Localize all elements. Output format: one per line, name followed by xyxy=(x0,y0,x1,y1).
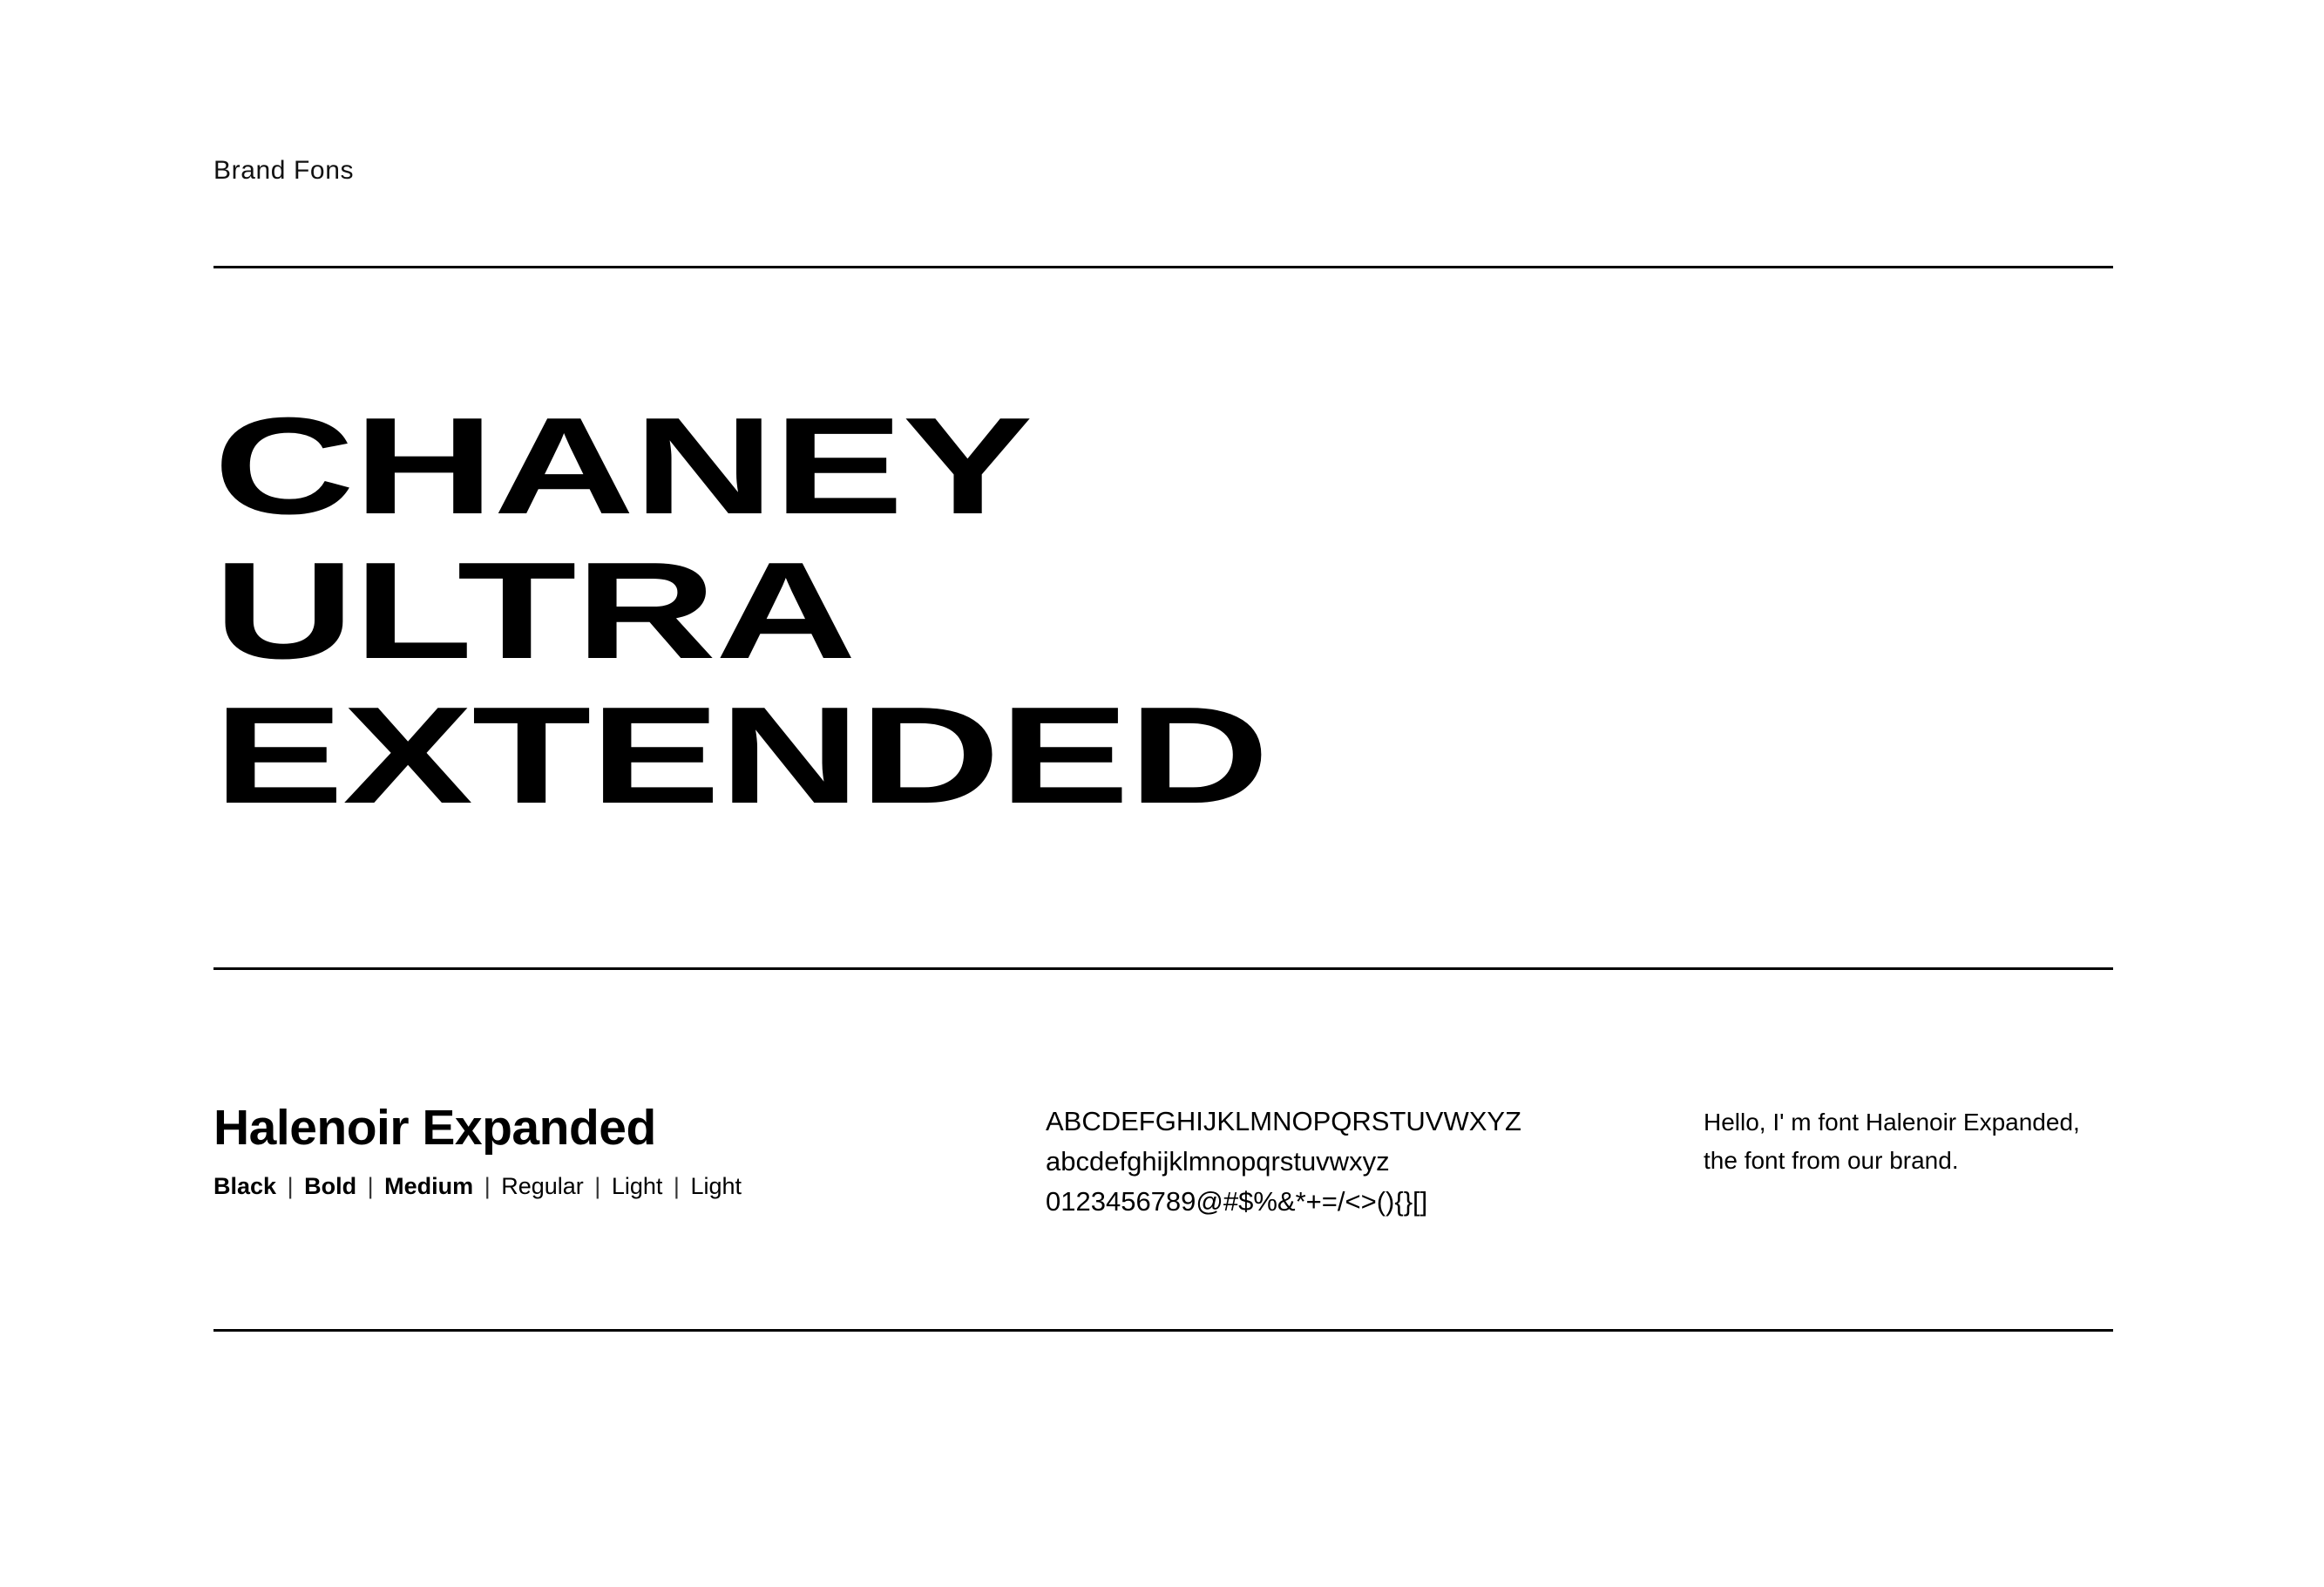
font-details-section: Halenoir Expanded Black | Bold | Medium … xyxy=(213,1100,2113,1274)
divider-bottom xyxy=(213,1329,2113,1332)
weight-black: Black xyxy=(213,1173,276,1199)
character-set-column: ABCDEFGHIJKLMNOPQRSTUVWXYZ abcdefghijklm… xyxy=(1046,1102,1569,1222)
display-line-1: CHANEY xyxy=(213,394,2317,539)
sample-text-column: Hello, I' m font Halenoir Expanded, the … xyxy=(1704,1103,2113,1180)
weight-regular: Regular xyxy=(501,1173,584,1199)
page-title: Brand Fons xyxy=(213,156,354,186)
font-name-column: Halenoir Expanded Black | Bold | Medium … xyxy=(213,1100,1024,1201)
charset-uppercase: ABCDEFGHIJKLMNOPQRSTUVWXYZ xyxy=(1046,1102,1569,1142)
display-type-specimen: CHANEY ULTRA EXTENDED xyxy=(213,394,1695,828)
divider-top xyxy=(213,266,2113,268)
font-weight-list: Black | Bold | Medium | Regular | Light … xyxy=(213,1171,1024,1201)
divider-middle xyxy=(213,967,2113,970)
weight-light-1: Light xyxy=(612,1173,663,1199)
charset-numerals-symbols: 0123456789@#$%&*+=/<>(){}[] xyxy=(1046,1182,1569,1222)
weight-separator: | xyxy=(669,1173,684,1199)
font-name: Halenoir Expanded xyxy=(213,1100,1024,1156)
display-line-2: ULTRA xyxy=(213,539,2317,683)
display-line-3: EXTENDED xyxy=(213,683,2317,828)
sample-text-line-2: the font from our brand. xyxy=(1704,1142,2113,1180)
specimen-page: Brand Fons CHANEY ULTRA EXTENDED Halenoi… xyxy=(0,0,2324,1587)
sample-text-line-1: Hello, I' m font Halenoir Expanded, xyxy=(1704,1103,2113,1142)
weight-light-2: Light xyxy=(690,1173,742,1199)
weight-bold: Bold xyxy=(304,1173,356,1199)
weight-separator: | xyxy=(480,1173,495,1199)
weight-separator: | xyxy=(283,1173,298,1199)
weight-separator: | xyxy=(363,1173,378,1199)
weight-separator: | xyxy=(590,1173,605,1199)
charset-lowercase: abcdefghijklmnopqrstuvwxyz xyxy=(1046,1142,1569,1182)
weight-medium: Medium xyxy=(384,1173,473,1199)
